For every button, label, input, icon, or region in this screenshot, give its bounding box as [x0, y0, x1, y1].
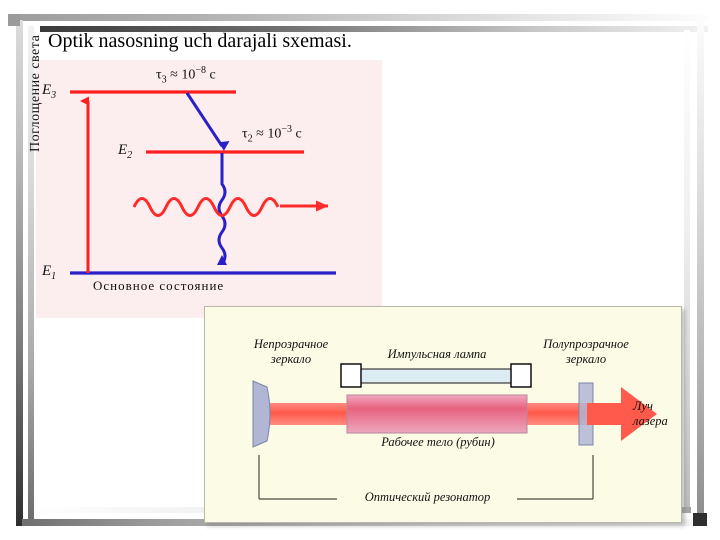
flash-lamp-cap-left — [341, 364, 361, 387]
active-medium-rod — [347, 395, 527, 433]
laser-scheme-diagram: Непрозрачное зеркало Полупрозрачное зерк… — [204, 306, 682, 523]
tau2-label: τ2 ≈ 10−3 с — [242, 124, 302, 144]
frame-corner-top-left — [8, 14, 20, 26]
slide: Optik nasosning uch darajali sxemasi. — [0, 0, 720, 540]
frame-bar-right-outer — [697, 20, 704, 520]
tau3-label: τ3 ≈ 10−8 с — [156, 65, 216, 85]
level-label-e1: E1 — [42, 263, 56, 282]
flash-lamp-cap-right — [511, 364, 531, 387]
frame-bar-right-inner — [684, 30, 690, 508]
ground-state-label: Основное состояние — [93, 278, 224, 294]
frame-bar-left-outer — [16, 20, 23, 526]
frame-corner-bottom-right — [693, 513, 707, 526]
energy-level-diagram: Поглощение света E3 E2 E1 τ3 ≈ 10−8 с τ2… — [36, 60, 382, 318]
flash-lamp-tube — [355, 369, 517, 383]
level-label-e2: E2 — [118, 142, 132, 161]
opaque-mirror-label: Непрозрачное зеркало — [221, 337, 361, 367]
relaxation-arrow — [187, 93, 222, 146]
page-title: Optik nasosning uch darajali sxemasi. — [48, 26, 668, 56]
opaque-mirror — [253, 381, 270, 447]
frame-bar-top-outer — [8, 14, 708, 21]
flash-lamp-label: Импульсная лампа — [347, 347, 527, 362]
level-label-e3: E3 — [42, 82, 56, 101]
photon-wave — [134, 199, 278, 216]
active-medium-label: Рабочее тело (рубин) — [333, 435, 543, 450]
resonator-label: Оптический резонатор — [335, 490, 520, 505]
laser-beam-label: Луч лазера — [633, 399, 689, 429]
semi-mirror-label: Полупрозрачное зеркало — [511, 337, 661, 367]
emission-wavy-line — [219, 153, 225, 264]
